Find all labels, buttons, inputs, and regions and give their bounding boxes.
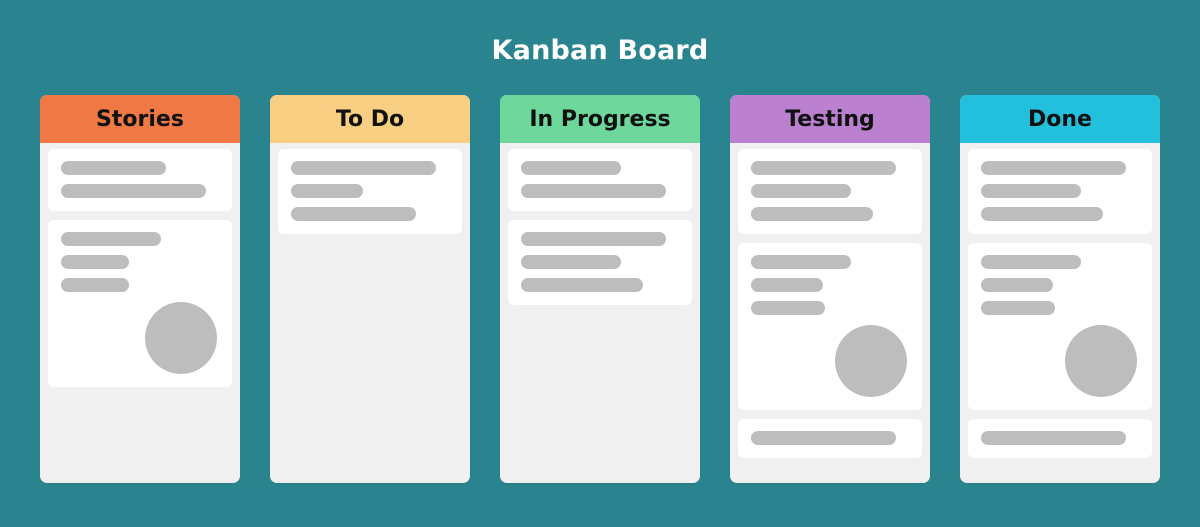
column-header-in-progress[interactable]: In Progress xyxy=(500,95,700,143)
card-placeholder-lines xyxy=(291,161,449,221)
card[interactable] xyxy=(738,149,922,234)
column-body-done xyxy=(960,143,1160,483)
placeholder-line xyxy=(981,184,1081,198)
column-header-testing[interactable]: Testing xyxy=(730,95,930,143)
card[interactable] xyxy=(508,149,692,211)
placeholder-line xyxy=(291,207,416,221)
card[interactable] xyxy=(48,149,232,211)
placeholder-line xyxy=(751,184,851,198)
avatar xyxy=(835,325,907,397)
avatar xyxy=(145,302,217,374)
placeholder-line xyxy=(291,161,436,175)
column-body-stories xyxy=(40,143,240,483)
placeholder-line xyxy=(521,161,621,175)
placeholder-line xyxy=(61,255,129,269)
placeholder-line xyxy=(981,161,1126,175)
kanban-board: Kanban Board StoriesTo DoIn ProgressTest… xyxy=(0,0,1200,527)
placeholder-line xyxy=(751,431,896,445)
placeholder-line xyxy=(751,278,823,292)
card-placeholder-lines xyxy=(61,161,219,198)
placeholder-line xyxy=(751,161,896,175)
card[interactable] xyxy=(968,149,1152,234)
card-placeholder-lines xyxy=(751,161,909,221)
column-body-to-do xyxy=(270,143,470,483)
board-column-in-progress[interactable]: In Progress xyxy=(500,95,700,483)
placeholder-line xyxy=(61,184,206,198)
card-placeholder-lines xyxy=(981,161,1139,221)
column-header-stories[interactable]: Stories xyxy=(40,95,240,143)
column-header-to-do[interactable]: To Do xyxy=(270,95,470,143)
card[interactable] xyxy=(738,419,922,458)
card[interactable] xyxy=(968,419,1152,458)
board-columns: StoriesTo DoIn ProgressTestingDone xyxy=(40,95,1160,483)
card[interactable] xyxy=(968,243,1152,410)
board-column-testing[interactable]: Testing xyxy=(730,95,930,483)
card-placeholder-lines xyxy=(981,255,1139,315)
placeholder-line xyxy=(981,278,1053,292)
card-placeholder-lines xyxy=(751,431,909,445)
card[interactable] xyxy=(508,220,692,305)
card-placeholder-lines xyxy=(61,232,219,292)
placeholder-line xyxy=(751,255,851,269)
placeholder-line xyxy=(751,301,825,315)
placeholder-line xyxy=(981,255,1081,269)
placeholder-line xyxy=(521,255,621,269)
placeholder-line xyxy=(981,207,1103,221)
card-placeholder-lines xyxy=(521,161,679,198)
placeholder-line xyxy=(61,232,161,246)
card-placeholder-lines xyxy=(751,255,909,315)
placeholder-line xyxy=(291,184,363,198)
placeholder-line xyxy=(981,431,1126,445)
placeholder-line xyxy=(521,232,666,246)
card[interactable] xyxy=(738,243,922,410)
card[interactable] xyxy=(278,149,462,234)
placeholder-line xyxy=(61,278,129,292)
column-body-in-progress xyxy=(500,143,700,483)
board-column-to-do[interactable]: To Do xyxy=(270,95,470,483)
page-title: Kanban Board xyxy=(0,34,1200,68)
placeholder-line xyxy=(751,207,873,221)
card[interactable] xyxy=(48,220,232,387)
placeholder-line xyxy=(981,301,1055,315)
placeholder-line xyxy=(521,184,666,198)
card-placeholder-lines xyxy=(981,431,1139,445)
avatar xyxy=(1065,325,1137,397)
board-column-done[interactable]: Done xyxy=(960,95,1160,483)
board-column-stories[interactable]: Stories xyxy=(40,95,240,483)
placeholder-line xyxy=(61,161,166,175)
card-placeholder-lines xyxy=(521,232,679,292)
placeholder-line xyxy=(521,278,643,292)
column-header-done[interactable]: Done xyxy=(960,95,1160,143)
column-body-testing xyxy=(730,143,930,483)
